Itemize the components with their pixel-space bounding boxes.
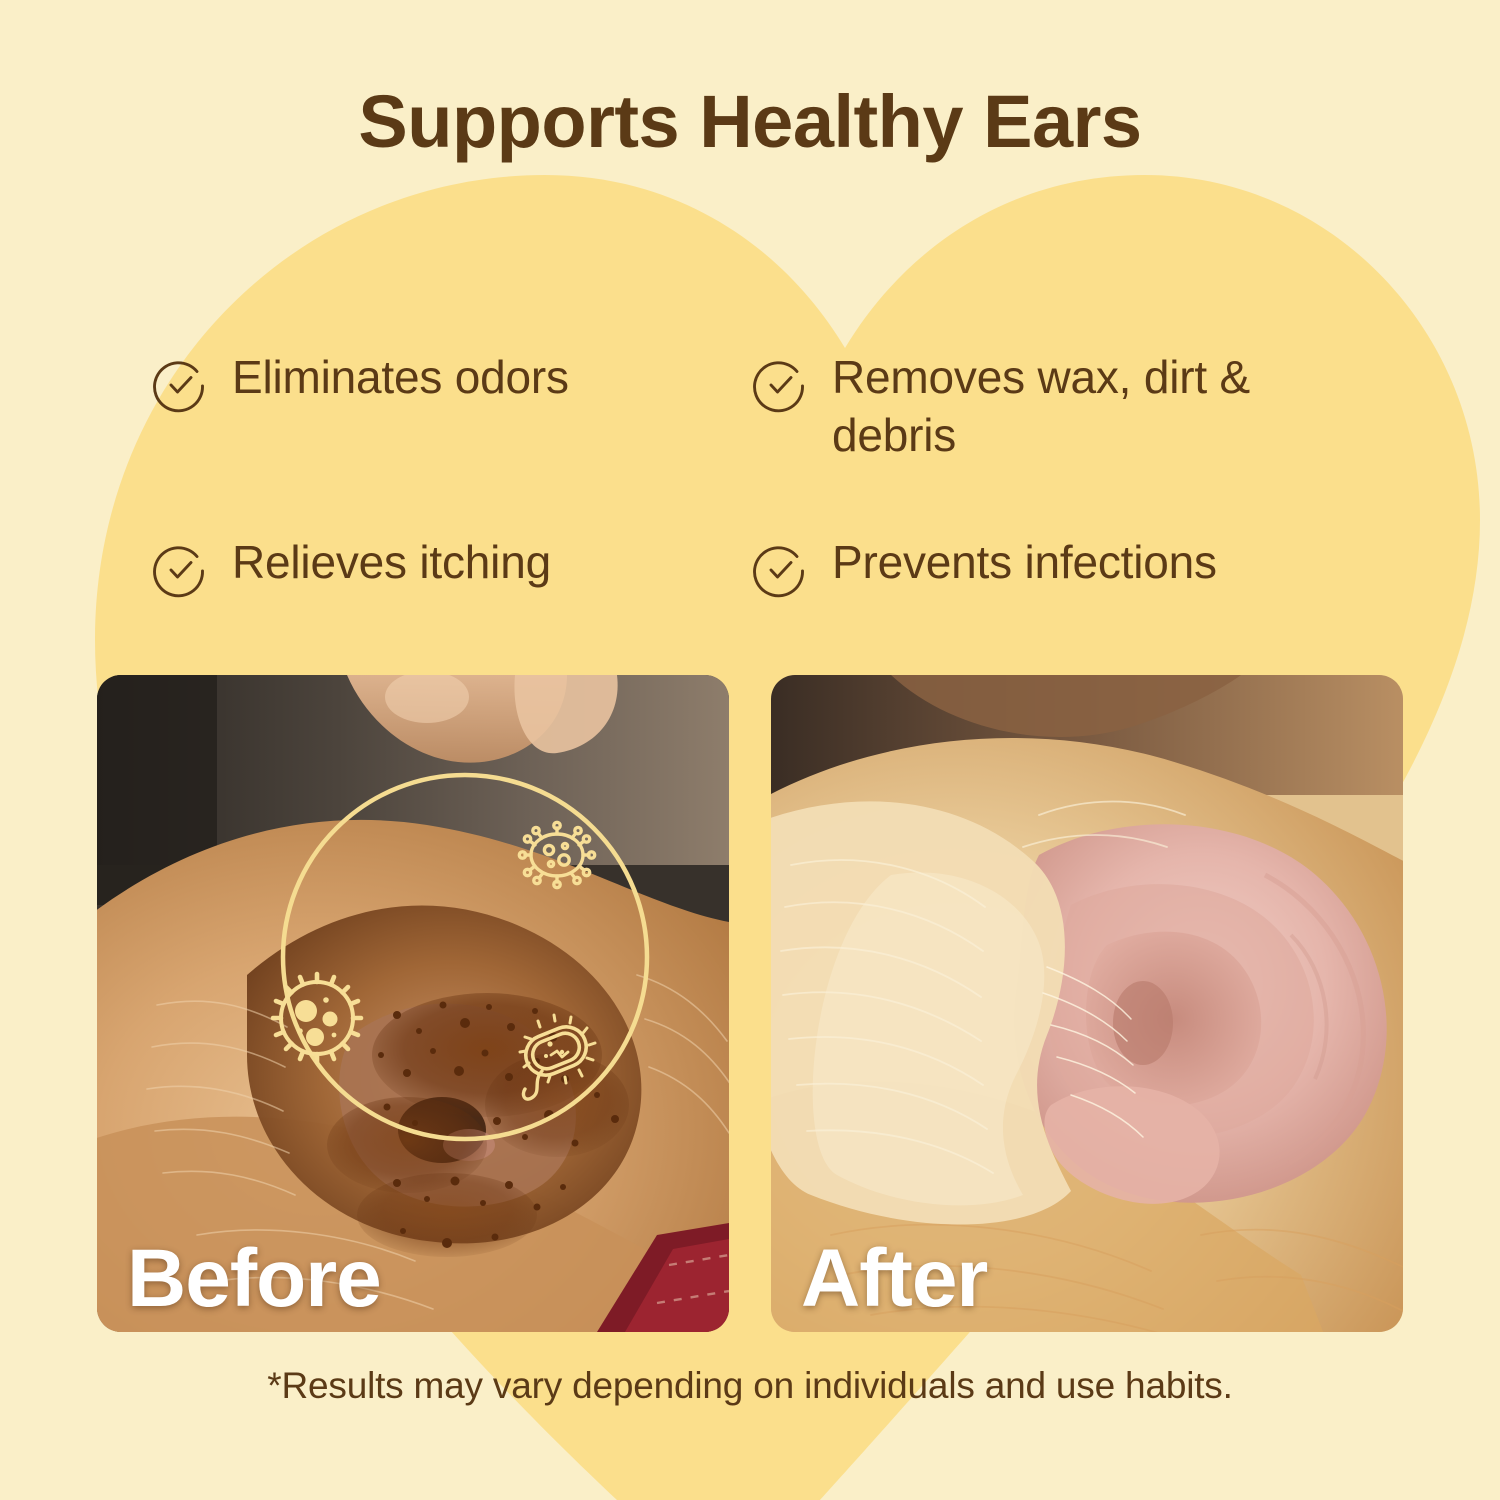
check-circle-icon — [150, 539, 210, 599]
results-disclaimer: *Results may vary depending on individua… — [0, 1365, 1500, 1407]
check-circle-icon — [750, 354, 810, 414]
benefit-label: Relieves itching — [232, 533, 551, 591]
benefit-item-eliminates-odors: Eliminates odors — [150, 348, 750, 465]
benefit-label: Eliminates odors — [232, 348, 569, 406]
before-after-comparison: Before — [97, 675, 1403, 1332]
after-panel: After — [771, 675, 1403, 1332]
page-title: Supports Healthy Ears — [0, 84, 1500, 161]
benefit-label: Removes wax, dirt & debris — [832, 348, 1352, 465]
benefit-item-removes-wax: Removes wax, dirt & debris — [750, 348, 1365, 465]
check-circle-icon — [150, 354, 210, 414]
product-feature-card: Supports Healthy Ears Eliminates odors R… — [0, 0, 1500, 1500]
before-label: Before — [127, 1234, 381, 1324]
after-label: After — [801, 1234, 987, 1324]
before-panel: Before — [97, 675, 729, 1332]
benefit-item-prevents-infections: Prevents infections — [750, 533, 1365, 599]
check-circle-icon — [750, 539, 810, 599]
benefit-item-relieves-itching: Relieves itching — [150, 533, 750, 599]
benefit-label: Prevents infections — [832, 533, 1217, 591]
benefits-list: Eliminates odors Removes wax, dirt & deb… — [150, 348, 1365, 599]
